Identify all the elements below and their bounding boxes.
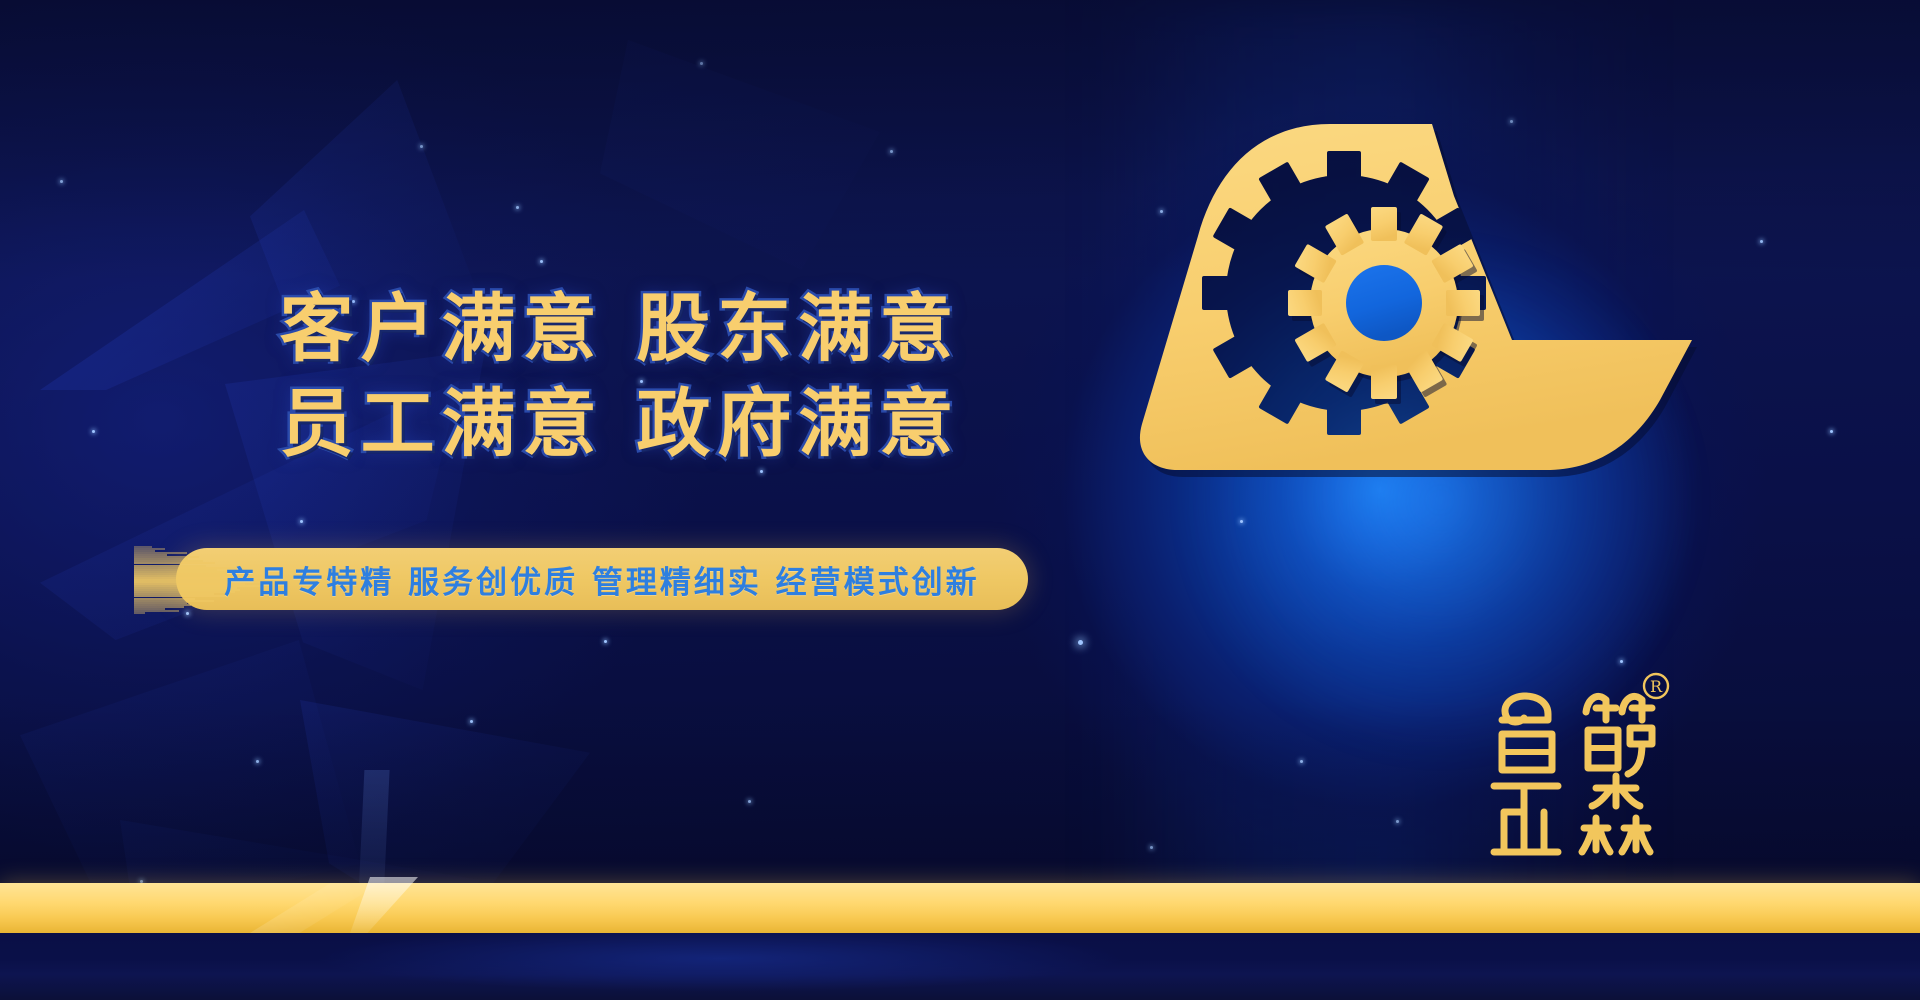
gold-bar-wedge-soft (250, 883, 380, 933)
gold-bar-wedge-bright (318, 877, 418, 939)
culture-banner: 客户满意 股东满意 员工满意 政府满意 产品专特精 服务创优质 管理精细实 经营… (0, 0, 1920, 1000)
seal-char-tai (1502, 696, 1552, 770)
headline-line-2: 员工满意 政府满意 (230, 377, 1010, 472)
headline-line-1: 客户满意 股东满意 (230, 282, 1010, 377)
seal-char-zhu (1586, 696, 1652, 774)
brand-seal-logotype: R (1478, 672, 1678, 864)
subtitle-text: 产品专特精 服务创优质 管理精细实 经营模式创新 (176, 548, 1028, 610)
seal-char-sen (1582, 776, 1650, 852)
seal-char-zheng (1494, 786, 1558, 852)
bottom-strip-glow (120, 933, 1320, 1000)
bottom-navy-strip (0, 933, 1920, 1000)
gold-divider-bar (0, 883, 1920, 933)
registered-icon: R (1644, 674, 1668, 698)
subtitle-banner: 产品专特精 服务创优质 管理精细实 经营模式创新 (176, 548, 1028, 610)
gear-swoosh-logo-icon (1132, 108, 1702, 483)
svg-text:R: R (1650, 677, 1663, 696)
logo-gear-hub (1346, 265, 1422, 341)
headline-block: 客户满意 股东满意 员工满意 政府满意 (230, 282, 1010, 472)
gold-bar-shine (0, 883, 1920, 933)
